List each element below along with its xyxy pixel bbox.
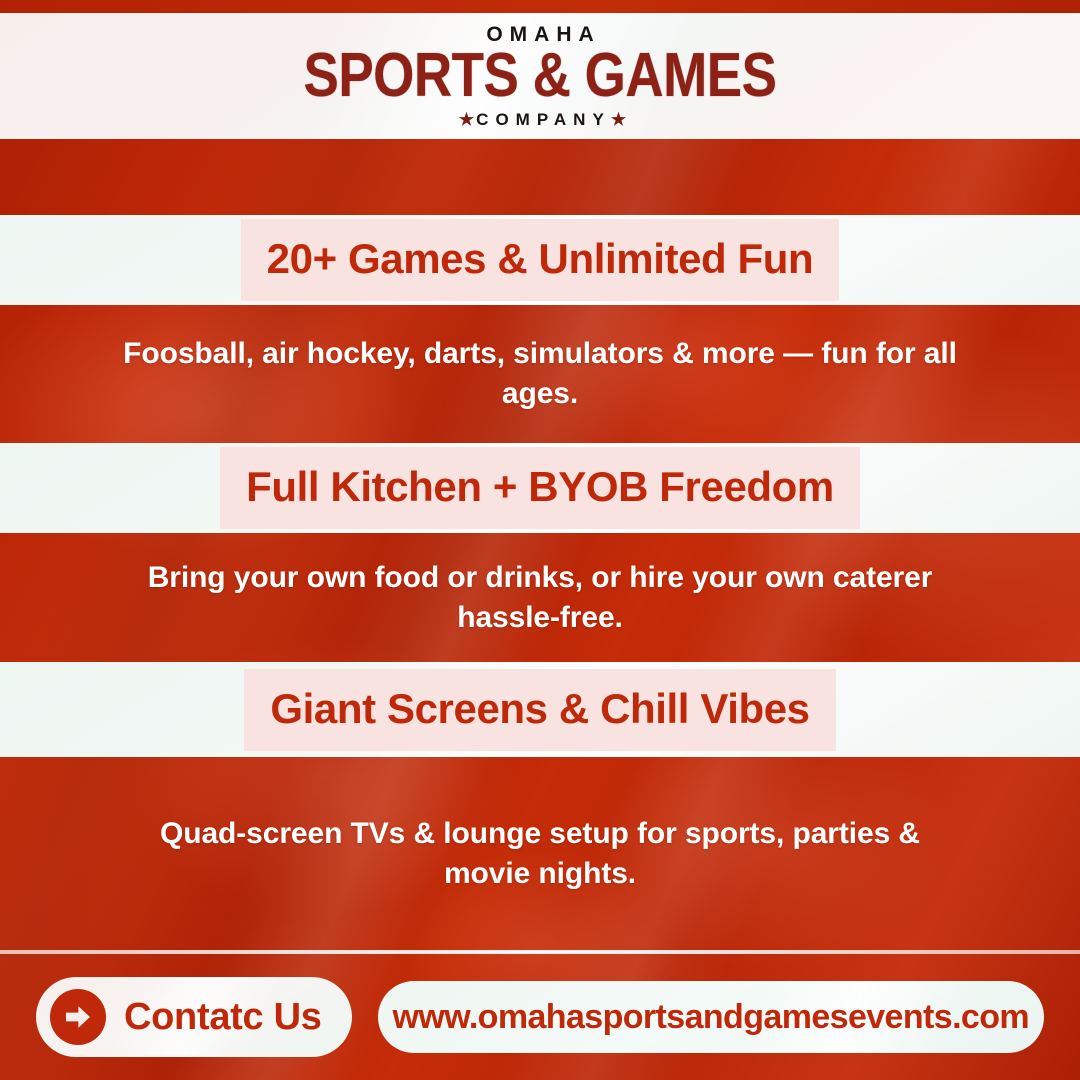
feature-body-band-1: Foosball, air hockey, darts, simulators … xyxy=(0,305,1080,443)
logo-line-sports-and-games: SPORTS & GAMES xyxy=(303,44,776,107)
feature-headline-2: Full Kitchen + BYOB Freedom xyxy=(220,447,860,529)
brand-logo: OMAHA SPORTS & GAMES ★COMPANY★ xyxy=(303,24,776,128)
contact-us-button[interactable]: Contatc Us xyxy=(36,977,352,1057)
feature-headline-band-2: Full Kitchen + BYOB Freedom xyxy=(0,443,1080,533)
website-link[interactable]: www.omahasportsandgamesevents.com xyxy=(378,981,1044,1053)
promo-poster: OMAHA SPORTS & GAMES ★COMPANY★ 20+ Games… xyxy=(0,0,1080,1080)
feature-headline-1: 20+ Games & Unlimited Fun xyxy=(241,219,840,301)
website-url-text: www.omahasportsandgamesevents.com xyxy=(393,1000,1029,1034)
feature-headline-3: Giant Screens & Chill Vibes xyxy=(244,669,835,751)
header-bar: OMAHA SPORTS & GAMES ★COMPANY★ xyxy=(0,13,1080,139)
footer-bar: Contatc Us www.omahasportsandgamesevents… xyxy=(0,954,1080,1080)
feature-body-1: Foosball, air hockey, darts, simulators … xyxy=(120,334,960,414)
feature-headline-band-1: 20+ Games & Unlimited Fun xyxy=(0,215,1080,305)
feature-body-2: Bring your own food or drinks, or hire y… xyxy=(120,558,960,638)
contact-us-label: Contatc Us xyxy=(124,998,322,1036)
logo-line-company: ★COMPANY★ xyxy=(303,111,776,128)
top-accent-strip xyxy=(0,0,1080,13)
logo-company-text: COMPANY xyxy=(476,110,611,129)
star-right-icon: ★ xyxy=(611,110,628,129)
feature-body-3: Quad-screen TVs & lounge setup for sport… xyxy=(120,814,960,894)
star-left-icon: ★ xyxy=(459,110,476,129)
feature-body-band-3: Quad-screen TVs & lounge setup for sport… xyxy=(0,757,1080,951)
feature-headline-band-3: Giant Screens & Chill Vibes xyxy=(0,662,1080,757)
arrow-right-icon xyxy=(50,989,106,1045)
feature-body-band-2: Bring your own food or drinks, or hire y… xyxy=(0,533,1080,662)
